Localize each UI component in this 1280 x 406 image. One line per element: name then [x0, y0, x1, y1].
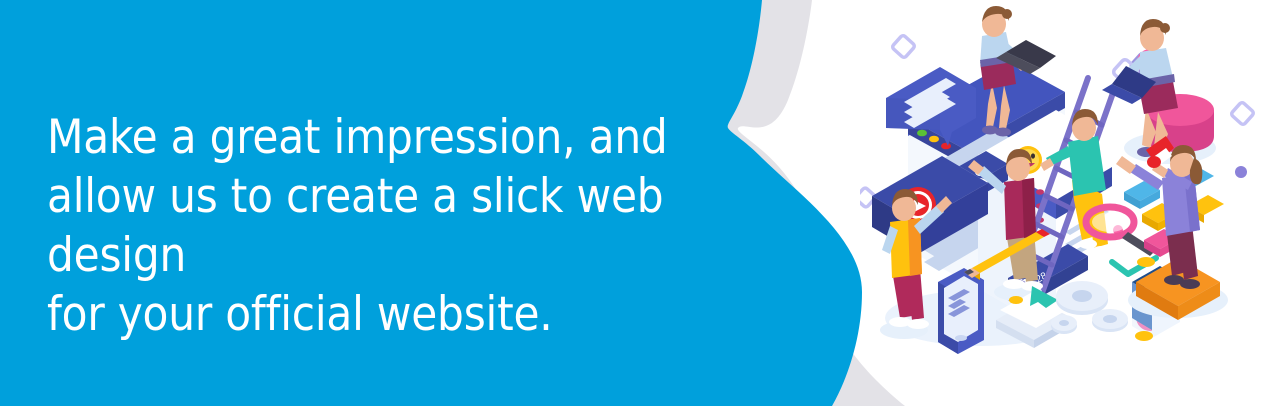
decor-dot-purple: [1235, 166, 1247, 178]
headline-text: Make a great impression, and allow us to…: [47, 108, 777, 344]
gears-icon: [1051, 281, 1128, 334]
decor-square-icon: [891, 34, 915, 58]
promo-banner: Make a great impression, and allow us to…: [0, 0, 1280, 406]
decor-square-icon: [1230, 101, 1254, 125]
smartphone: [938, 268, 984, 354]
isometric-illustration: 28: [860, 0, 1280, 406]
